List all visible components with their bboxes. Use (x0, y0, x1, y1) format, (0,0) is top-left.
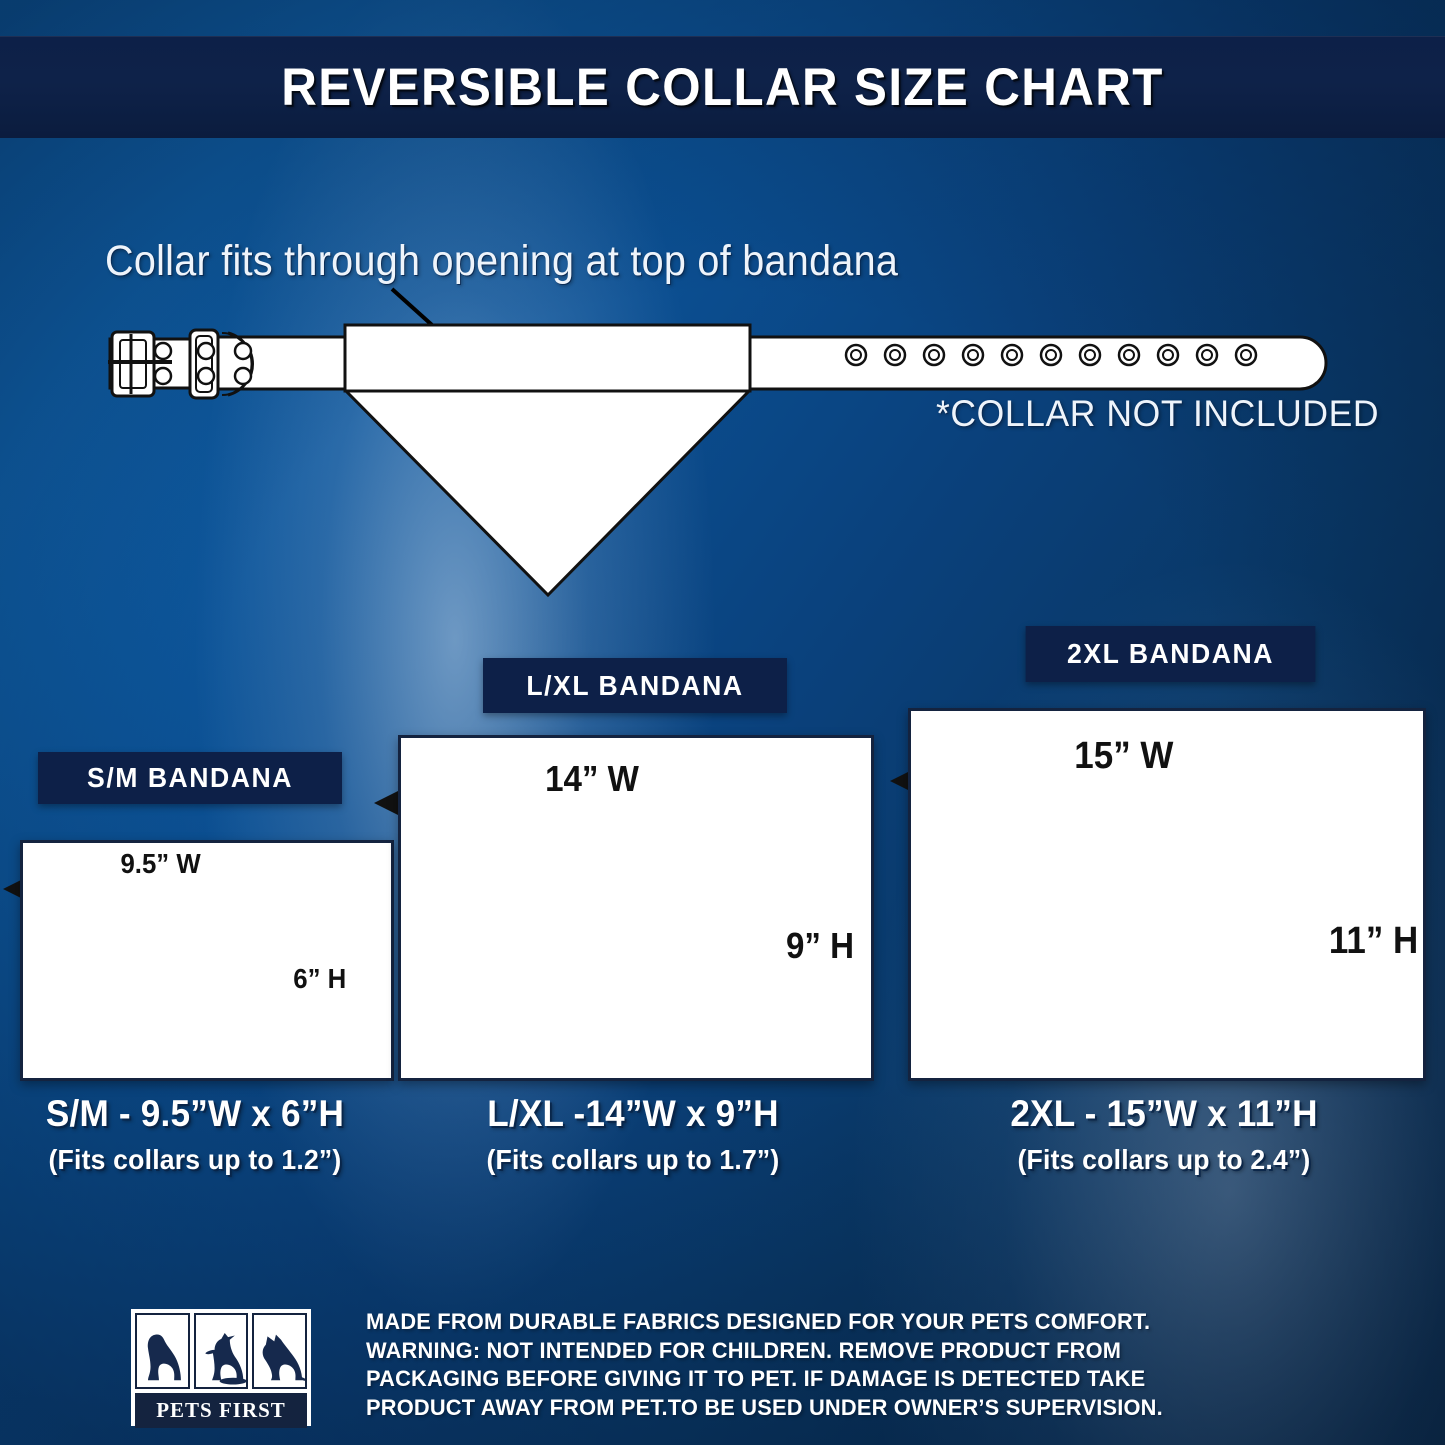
disclaimer-text: MADE FROM DURABLE FABRICS DESIGNED FOR Y… (366, 1308, 1317, 1422)
sm-caption-sub: (Fits collars up to 1.2”) (10, 1144, 381, 1176)
sm-width-label: 9.5” W (120, 848, 200, 880)
callout-text: Collar fits through opening at top of ba… (105, 237, 898, 286)
lxl-caption-sub: (Fits collars up to 1.7”) (410, 1144, 857, 1176)
xxl-caption-sub: (Fits collars up to 2.4”) (921, 1144, 1407, 1176)
xxl-label-text: 2XL BANDANA (1067, 638, 1274, 670)
xxl-caption-main: 2XL - 15”W x 11”H (921, 1093, 1407, 1135)
xxl-width-label: 15” W (1074, 735, 1173, 778)
lxl-label-bar: L/XL BANDANA (483, 658, 787, 713)
disclaimer-line-3: PACKAGING BEFORE GIVING IT TO PET. IF DA… (366, 1365, 1317, 1394)
sm-label-bar: S/M BANDANA (38, 752, 342, 804)
page-title: REVERSIBLE COLLAR SIZE CHART (51, 36, 1395, 138)
xxl-label-bar: 2XL BANDANA (1026, 626, 1316, 682)
xxl-height-label: 11” H (1329, 920, 1418, 963)
lxl-caption-main: L/XL -14”W x 9”H (410, 1093, 857, 1135)
size-chart-infographic: REVERSIBLE COLLAR SIZE CHART Collar fits… (0, 0, 1445, 1445)
sm-caption: S/M - 9.5”W x 6”H (Fits collars up to 1.… (0, 1093, 390, 1176)
logo-dog-begging-icon (194, 1313, 249, 1389)
lxl-label-text: L/XL BANDANA (526, 670, 743, 702)
lxl-height-label: 9” H (786, 925, 854, 967)
disclaimer-line-4: PRODUCT AWAY FROM PET.TO BE USED UNDER O… (366, 1394, 1317, 1423)
sm-caption-main: S/M - 9.5”W x 6”H (10, 1093, 381, 1135)
logo-wordmark: PETS FIRST (156, 1398, 286, 1423)
sm-height-label: 6” H (293, 963, 346, 995)
lxl-caption: L/XL -14”W x 9”H (Fits collars up to 1.7… (398, 1093, 868, 1176)
logo-dog-shepherd-icon (252, 1313, 307, 1389)
sm-card (20, 840, 394, 1081)
pets-first-logo: PETS FIRST (131, 1309, 311, 1426)
disclaimer-line-2: WARNING: NOT INTENDED FOR CHILDREN. REMO… (366, 1337, 1317, 1366)
logo-dog-sitting-icon (135, 1313, 190, 1389)
collar-not-included-note: *COLLAR NOT INCLUDED (936, 393, 1379, 435)
xxl-caption: 2XL - 15”W x 11”H (Fits collars up to 2.… (908, 1093, 1420, 1176)
disclaimer-line-1: MADE FROM DURABLE FABRICS DESIGNED FOR Y… (366, 1308, 1317, 1337)
sm-label-text: S/M BANDANA (87, 762, 293, 794)
logo-wordmark-bar: PETS FIRST (135, 1393, 307, 1428)
lxl-width-label: 14” W (545, 758, 639, 800)
